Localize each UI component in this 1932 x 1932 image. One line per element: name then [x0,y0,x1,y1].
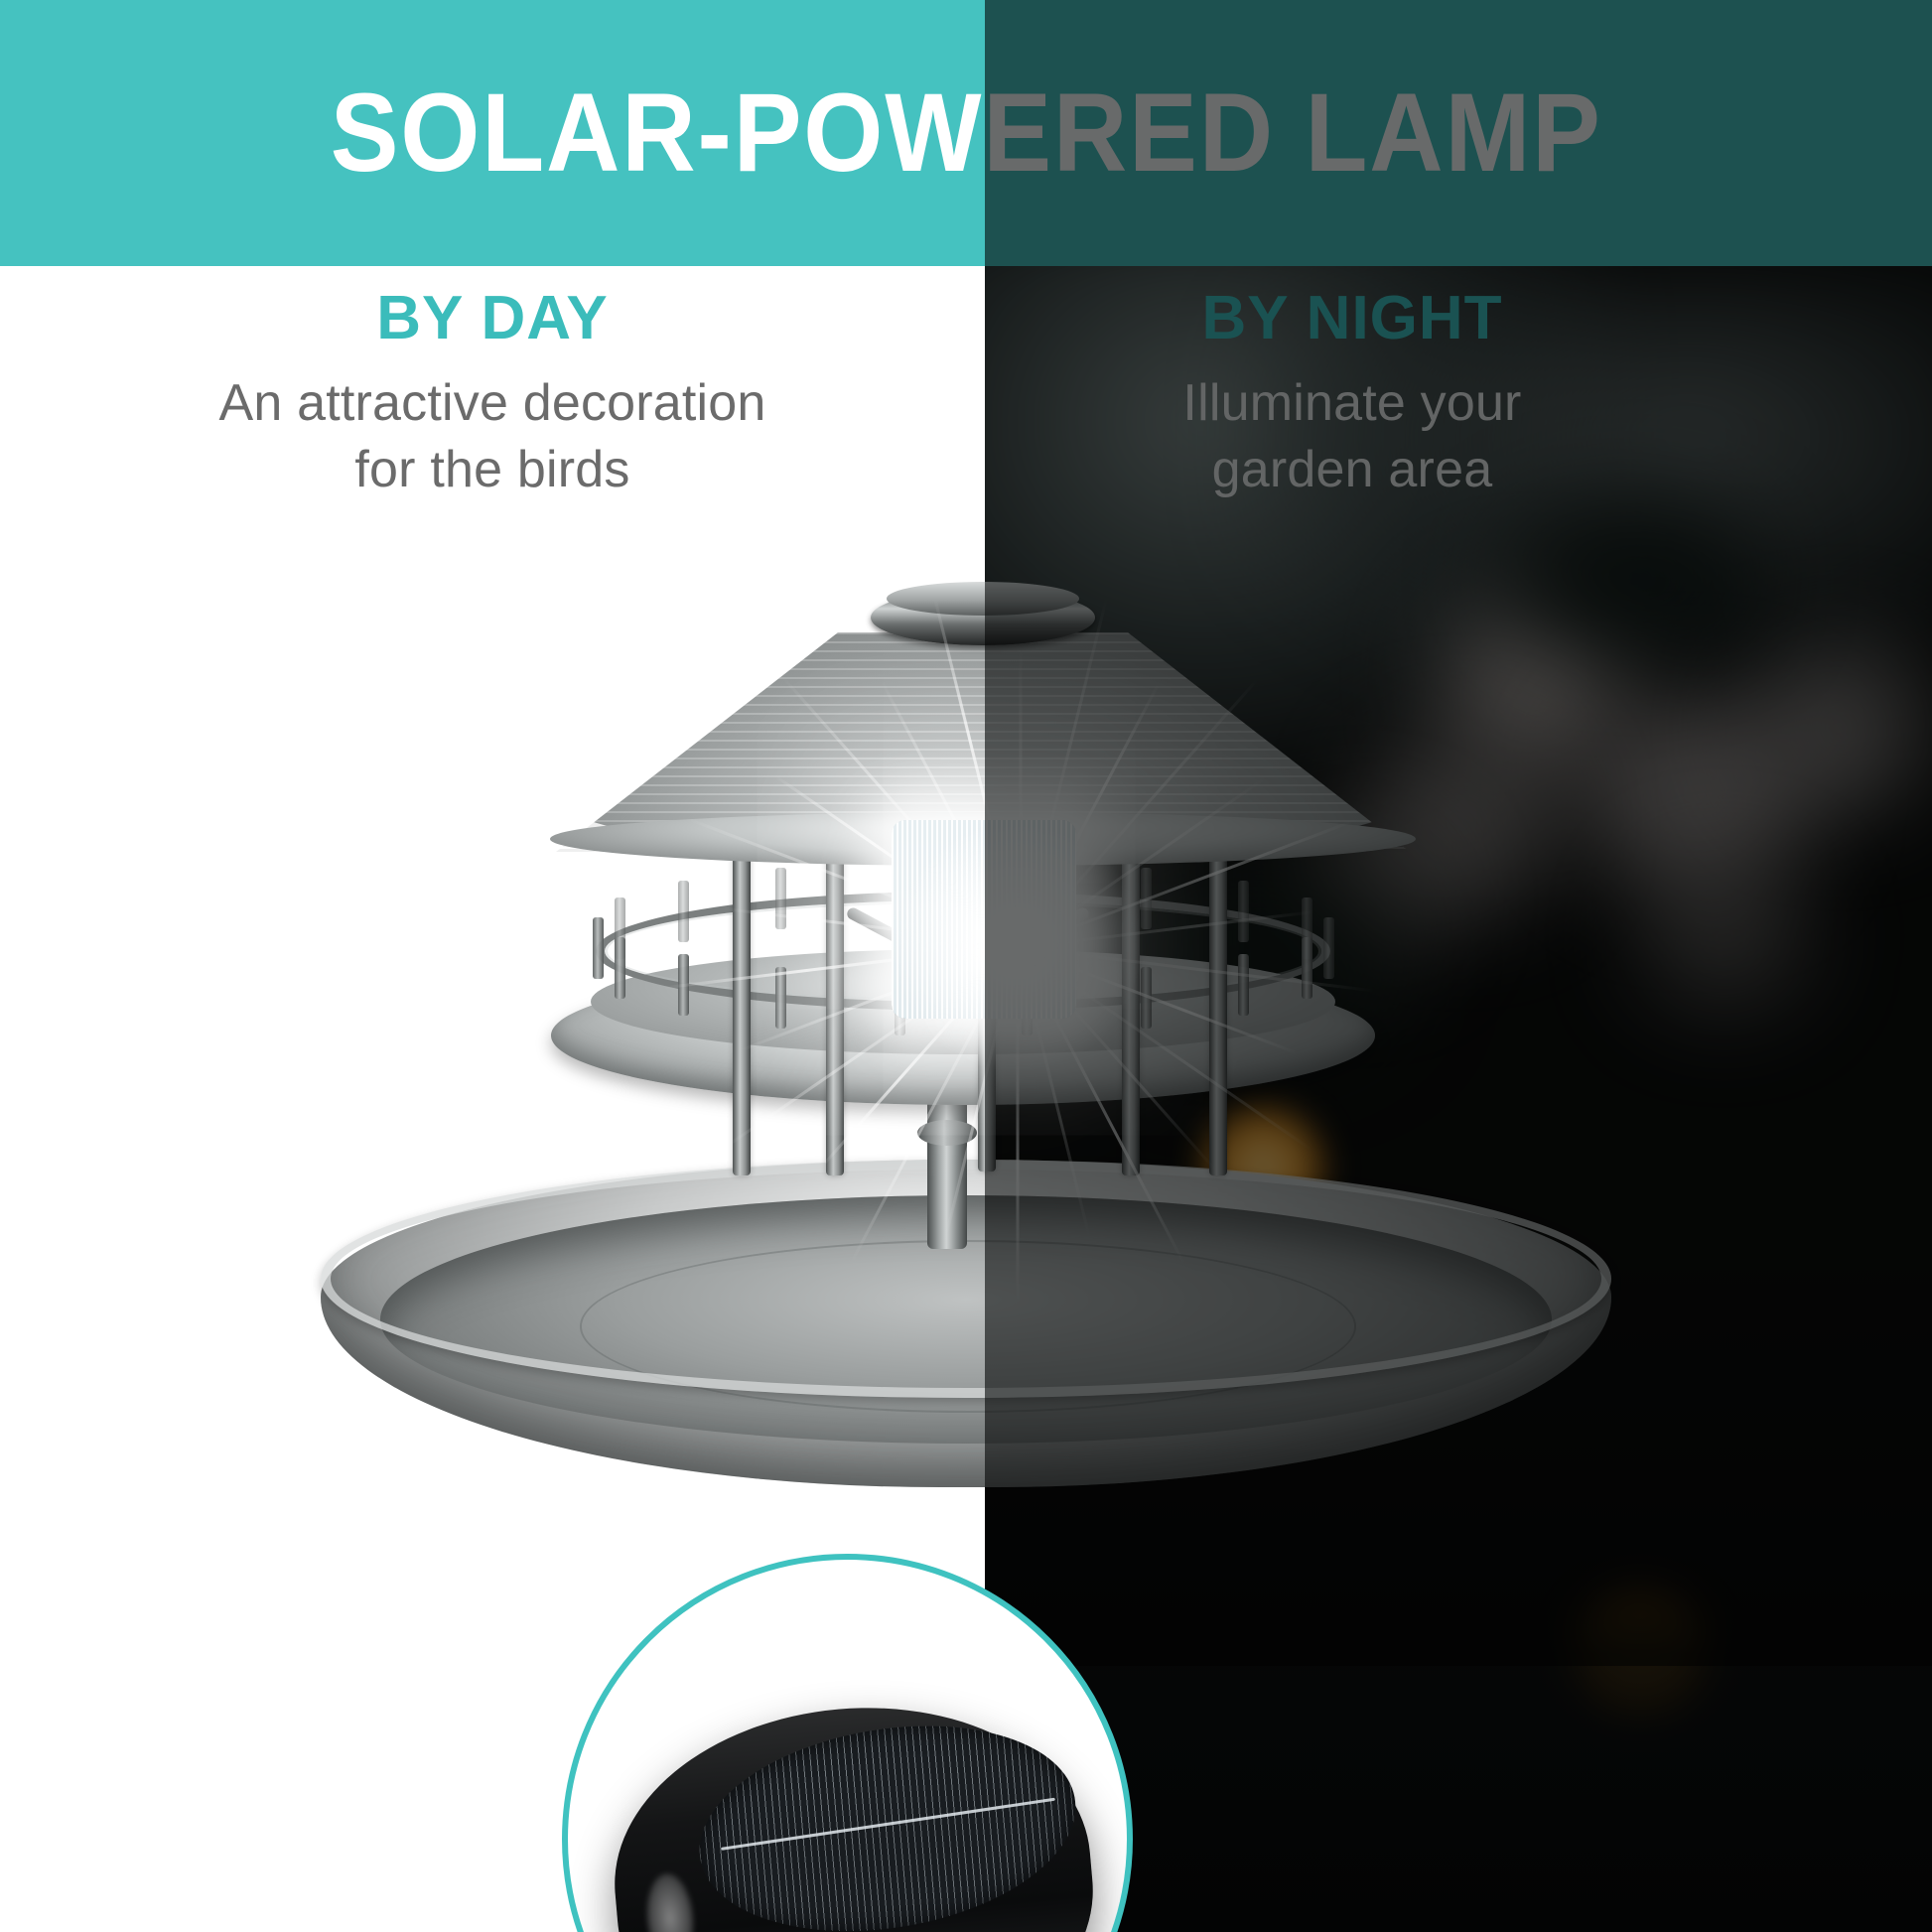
night-heading: BY NIGHT [1005,286,1700,350]
night-panel: BY NIGHT Illuminate your garden area [985,266,1932,1932]
day-description-line-2: for the birds [30,437,955,503]
bokeh-blossom-4 [1749,643,1928,812]
solar-panel-cells [691,1703,1084,1932]
header-bar: SOLAR-POWERED LAMP [0,0,1932,266]
night-garden-backdrop [985,266,1932,1932]
day-description: An attractive decoration for the birds [30,370,955,502]
solar-panel-housing [601,1689,1107,1932]
bokeh-light-orange-1 [1198,1105,1327,1229]
night-description-line-1: Illuminate your [1005,370,1700,437]
housing-highlight-3 [643,1871,697,1932]
bokeh-foliage-dark-2 [1104,862,1402,1060]
bokeh-foliage-dark-1 [1501,504,1759,653]
bokeh-light-white [1015,901,1104,986]
day-caption: BY DAY An attractive decoration for the … [30,286,955,502]
day-description-line-1: An attractive decoration [30,370,955,437]
night-caption: BY NIGHT Illuminate your garden area [1005,286,1700,502]
marketing-banner: SOLAR-POWERED LAMP BY DAY An attractive … [0,0,1932,1932]
bokeh-blossom-6 [1640,862,1809,1011]
day-heading: BY DAY [30,286,955,350]
page-title: SOLAR-POWERED LAMP [330,77,1601,189]
night-description: Illuminate your garden area [1005,370,1700,502]
night-description-line-2: garden area [1005,437,1700,503]
